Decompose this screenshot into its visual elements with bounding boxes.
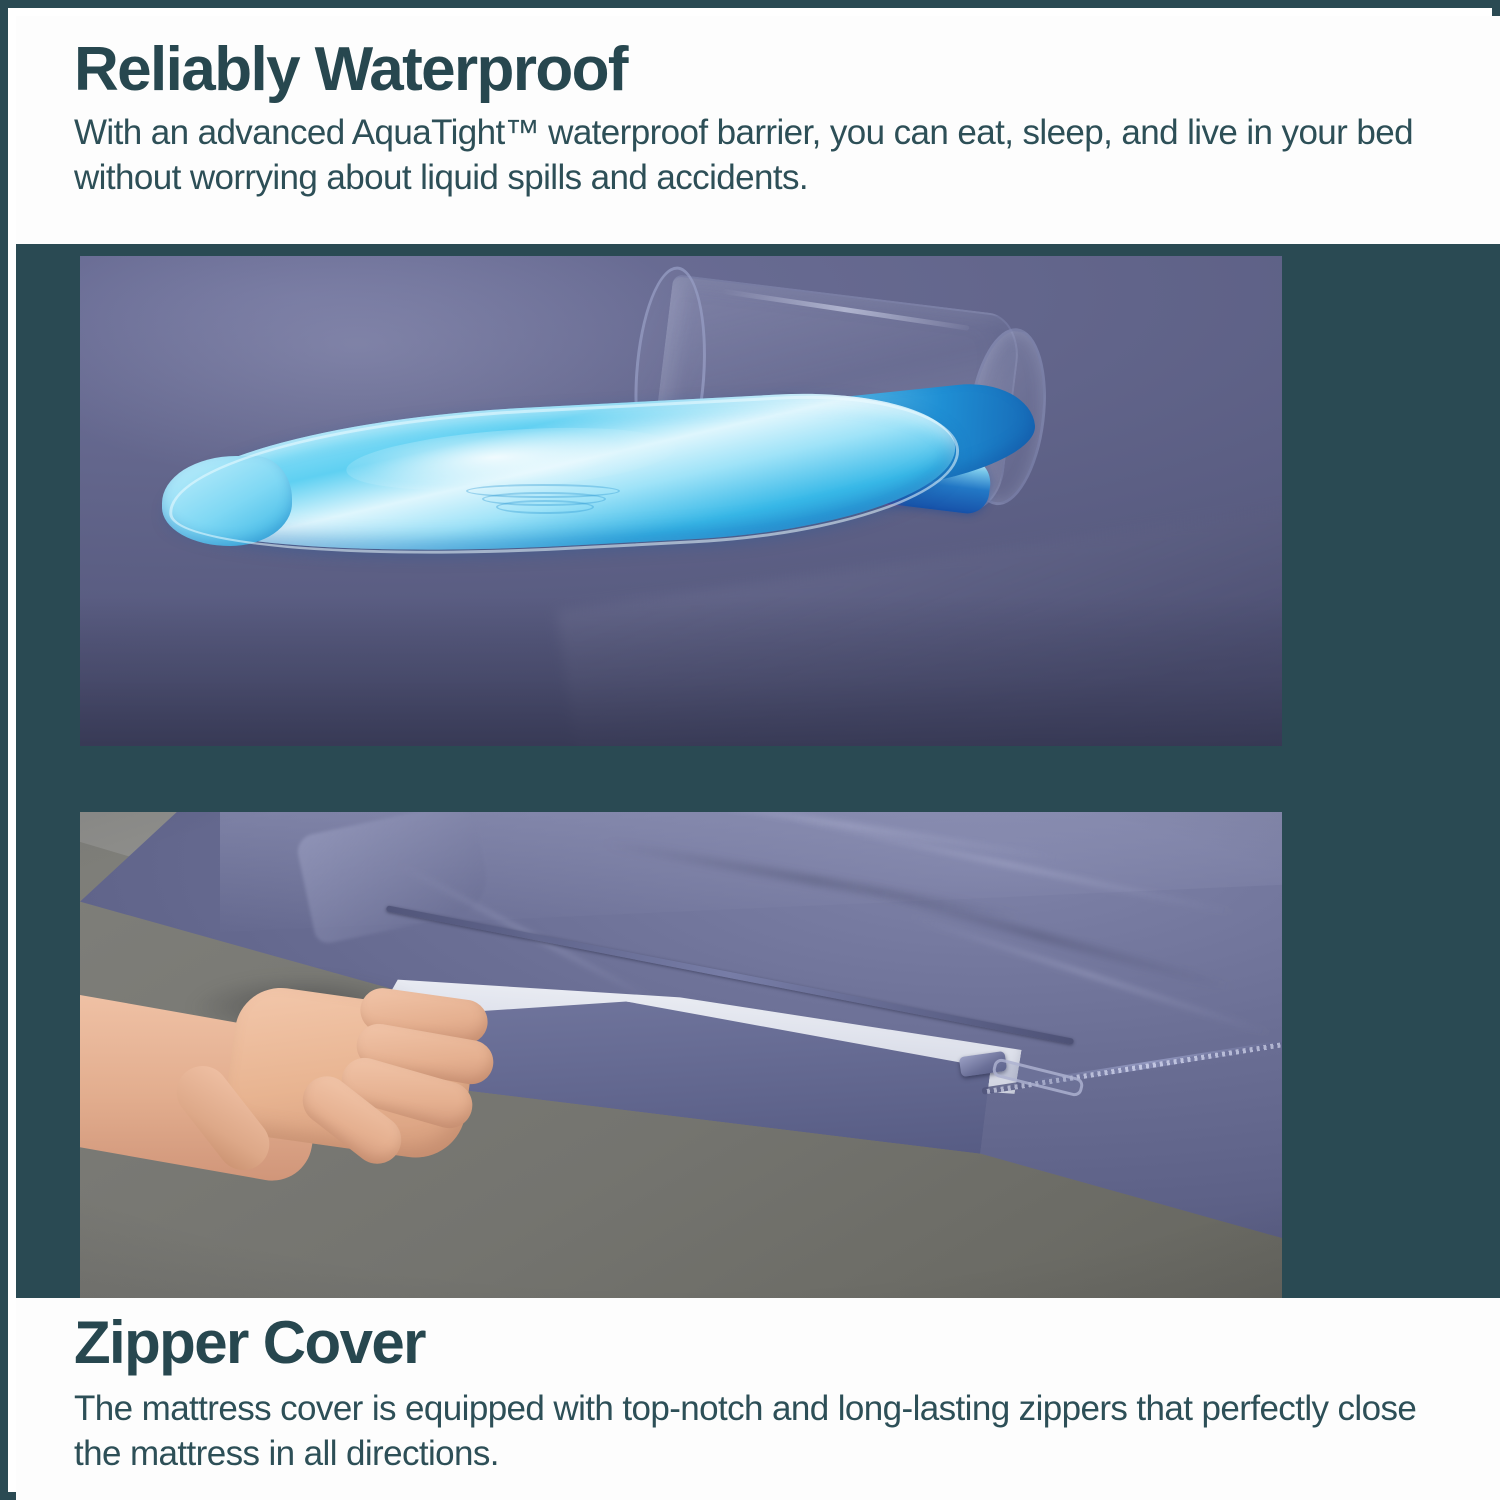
waterproof-heading: Reliably Waterproof [74,38,1472,101]
product-feature-card: Reliably Waterproof With an advanced Aqu… [0,0,1500,1500]
mattress-edge-shadow [80,596,1282,746]
zipper-body: The mattress cover is equipped with top-… [74,1387,1472,1477]
spilled-liquid [166,396,966,556]
zipper-heading: Zipper Cover [74,1312,1472,1373]
zipper-photo [80,812,1282,1302]
photo-vignette [80,812,1282,1302]
waterproof-text-block: Reliably Waterproof With an advanced Aqu… [16,16,1500,244]
zipper-text-block: Zipper Cover The mattress cover is equip… [16,1298,1500,1500]
zipper-photo-panel [76,808,1286,1306]
puddle-rim [165,387,963,570]
waterproof-body: With an advanced AquaTight™ waterproof b… [74,111,1472,201]
card-frame: Reliably Waterproof With an advanced Aqu… [16,16,1500,1500]
waterproof-photo-panel [76,252,1286,750]
spill-photo [80,256,1282,746]
